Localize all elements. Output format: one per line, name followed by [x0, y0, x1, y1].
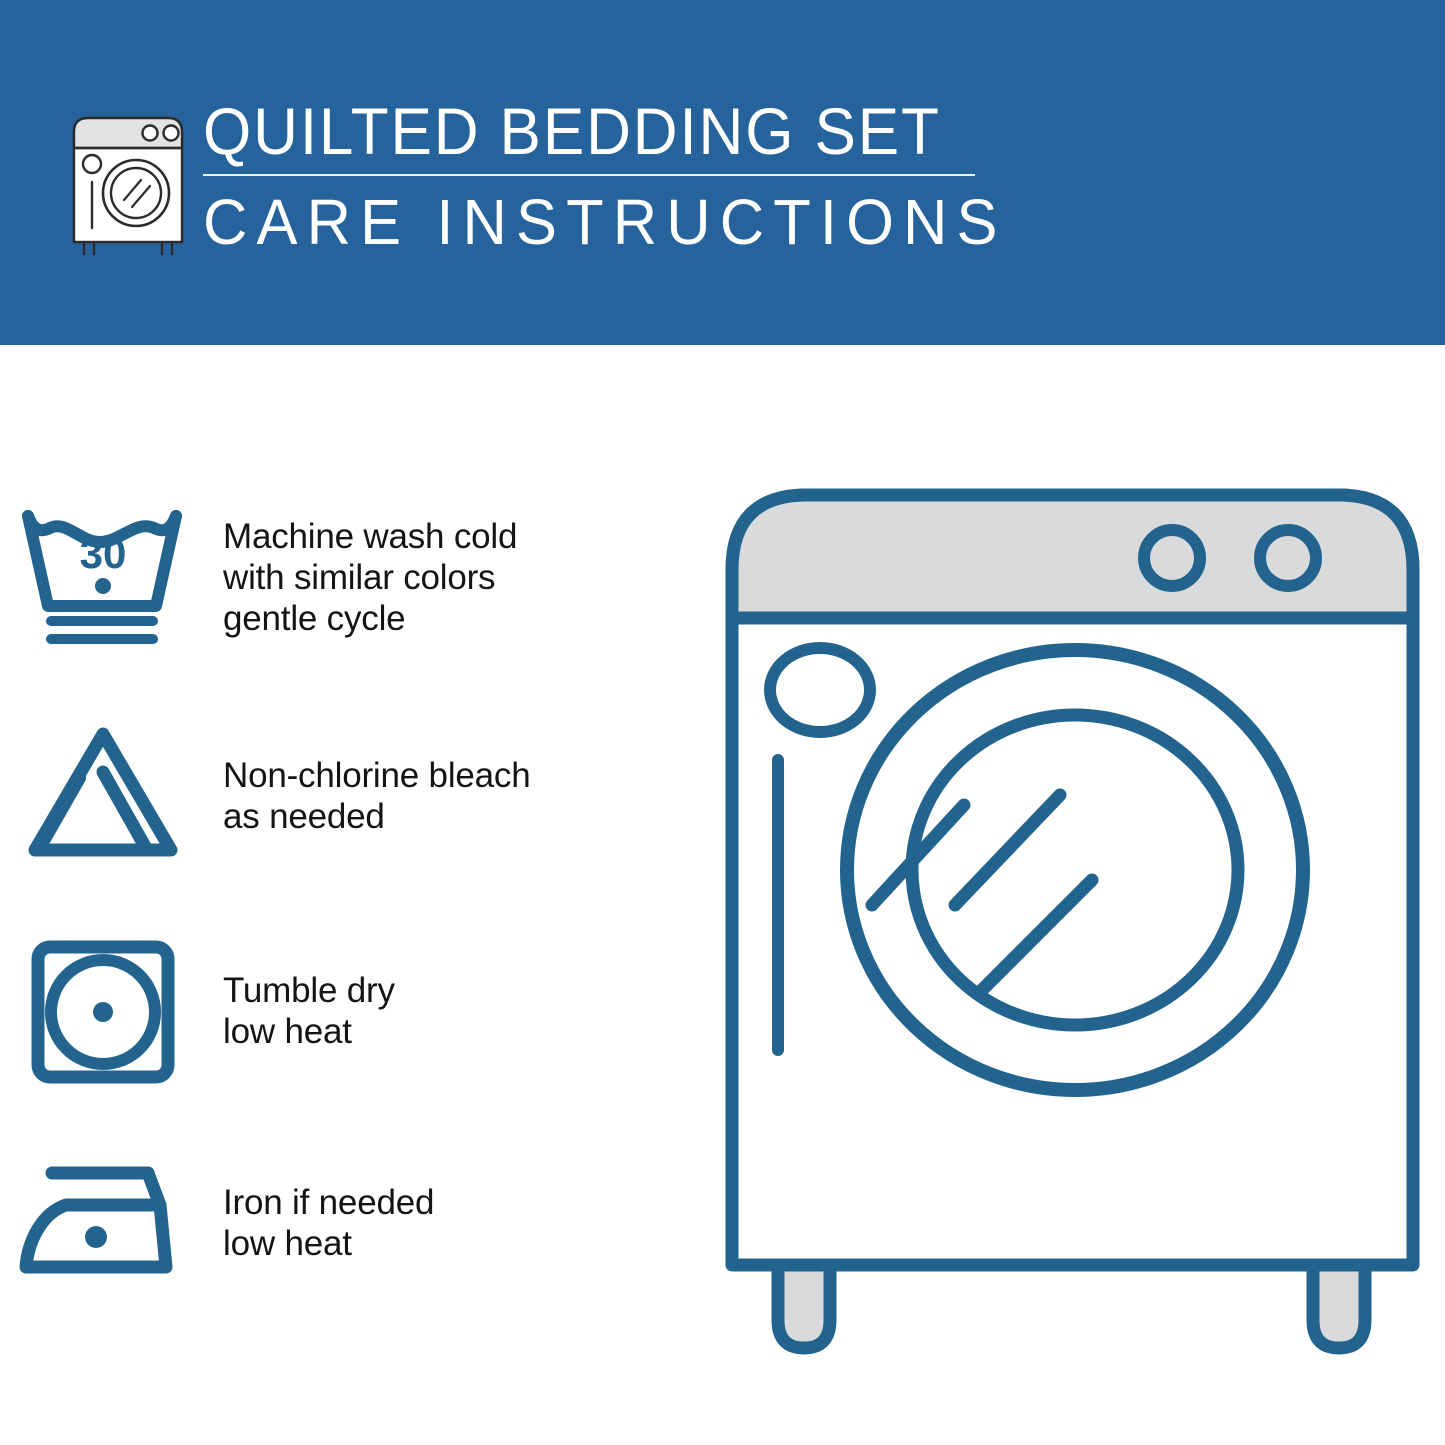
care-row-text: Iron if needed low heat — [205, 1182, 434, 1264]
care-row: 30 Machine wash cold with similar colors… — [0, 495, 700, 660]
care-text-line: with similar colors — [223, 557, 517, 598]
care-row: Iron if needed low heat — [0, 1140, 700, 1305]
care-text-line: Tumble dry — [223, 970, 395, 1011]
washing-machine-logo-icon — [62, 104, 194, 256]
care-text-line: Non-chlorine bleach — [223, 755, 531, 796]
page-subtitle: CARE INSTRUCTIONS — [203, 188, 1163, 256]
care-row: Tumble dry low heat — [0, 928, 700, 1093]
care-text-line: Iron if needed — [223, 1182, 434, 1223]
care-text-line: Machine wash cold — [223, 516, 517, 557]
header-text-block: QUILTED BEDDING SET CARE INSTRUCTIONS — [203, 96, 1203, 256]
washer-knob-left — [1144, 530, 1200, 586]
washer-small-dial — [770, 648, 870, 732]
tumble-dry-low-heat-icon — [0, 928, 205, 1093]
care-instruction-list: 30 Machine wash cold with similar colors… — [0, 345, 700, 1445]
wash-temperature-label: 30 — [79, 530, 126, 577]
washer-knob-right — [1260, 530, 1316, 586]
care-row: Non-chlorine bleach as needed — [0, 713, 700, 878]
care-row-text: Non-chlorine bleach as needed — [205, 755, 531, 837]
washer-leg-right — [1313, 1265, 1365, 1348]
care-text-line: as needed — [223, 796, 531, 837]
wash-tub-30-gentle-icon: 30 — [0, 495, 205, 660]
header-banner: QUILTED BEDDING SET CARE INSTRUCTIONS — [0, 0, 1445, 345]
care-text-line: low heat — [223, 1223, 434, 1264]
care-text-line: gentle cycle — [223, 598, 517, 639]
care-row-text: Machine wash cold with similar colors ge… — [205, 516, 517, 639]
care-text-line: low heat — [223, 1011, 395, 1052]
page-title: QUILTED BEDDING SET — [203, 96, 1143, 166]
care-row-text: Tumble dry low heat — [205, 970, 395, 1052]
non-chlorine-bleach-triangle-icon — [0, 713, 205, 878]
front-load-washing-machine-illustration — [700, 450, 1445, 1400]
care-instructions-page: QUILTED BEDDING SET CARE INSTRUCTIONS 30 — [0, 0, 1445, 1445]
iron-low-heat-icon — [0, 1140, 205, 1305]
washer-porthole-inner — [912, 715, 1238, 1025]
washer-leg-left — [778, 1265, 830, 1348]
title-divider — [203, 174, 975, 176]
